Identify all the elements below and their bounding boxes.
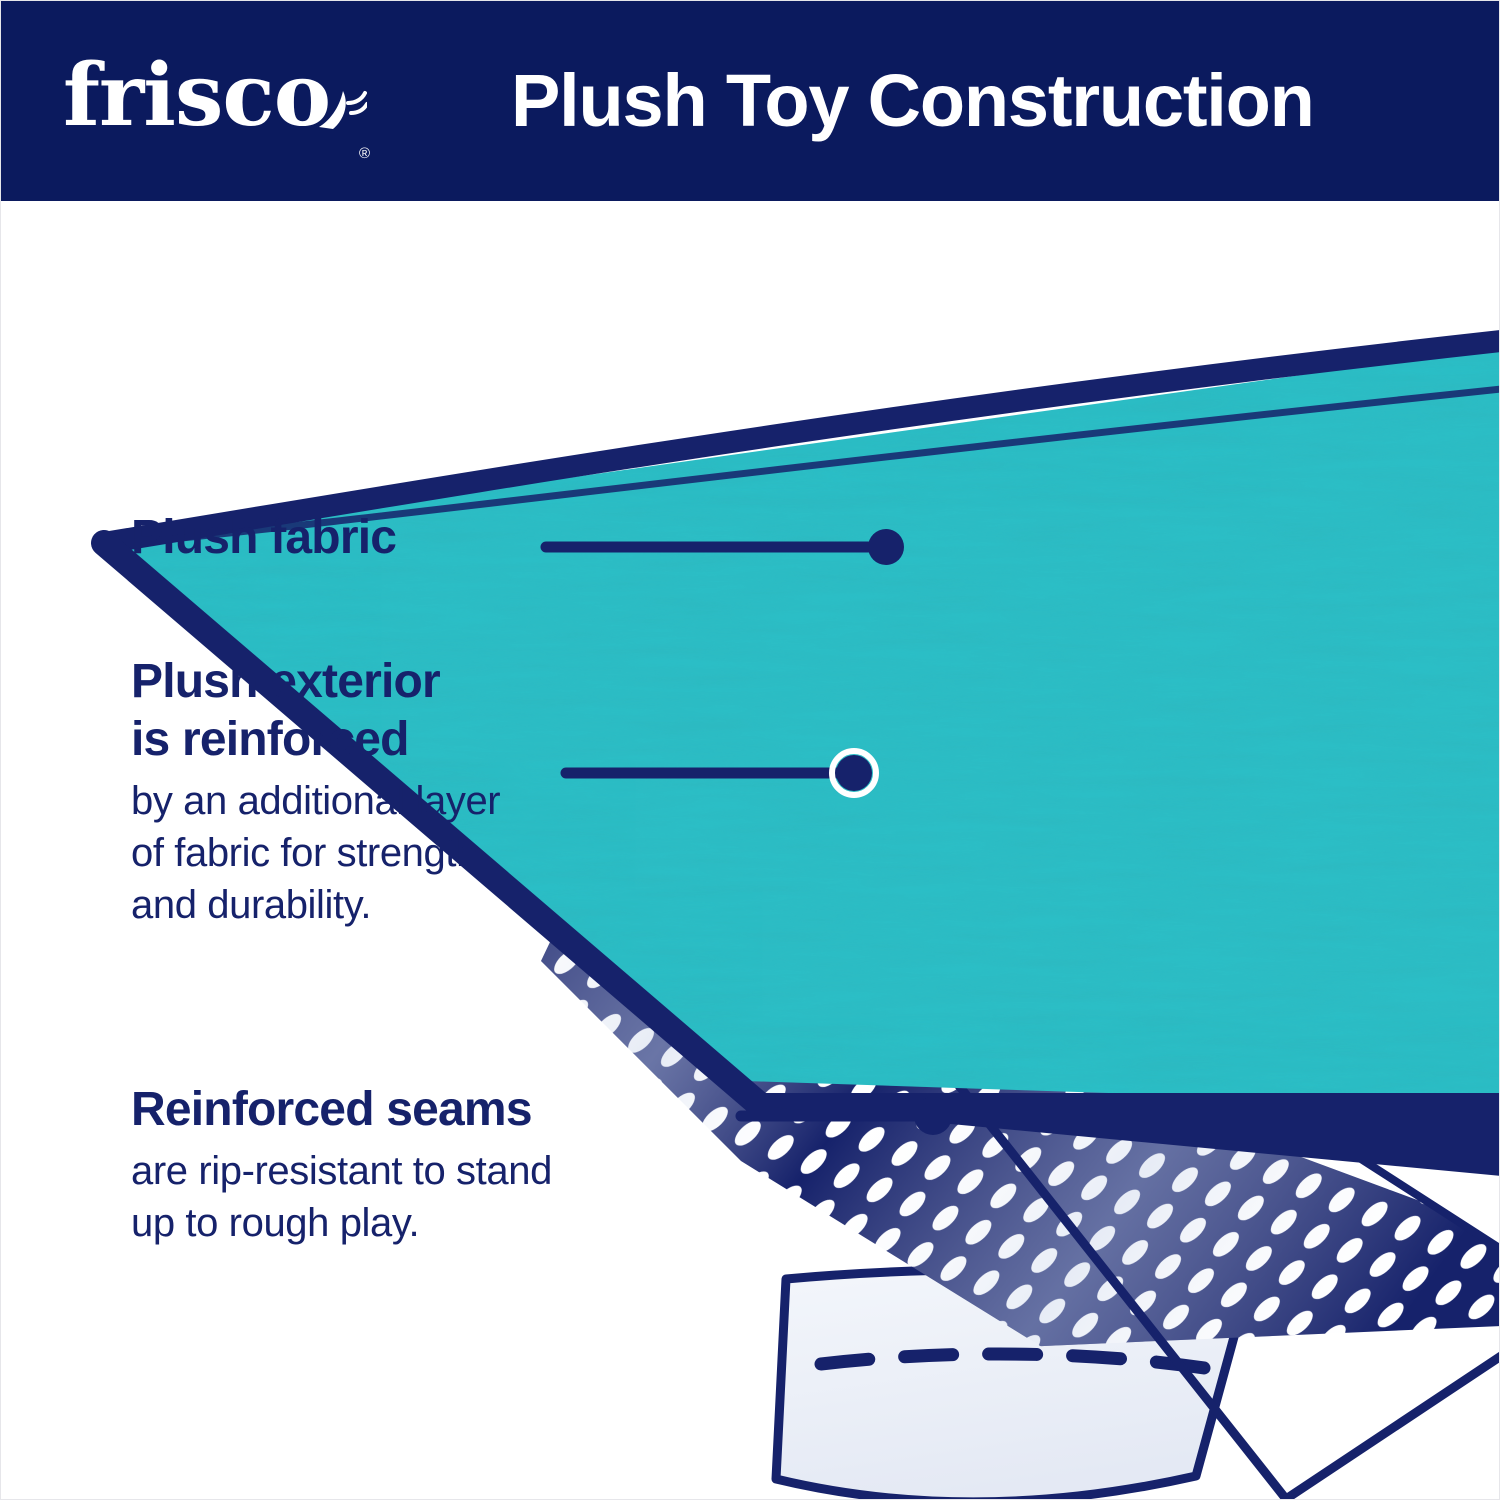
page-header: frisco ® Plush Toy Construction <box>1 1 1500 201</box>
callout-plush-exterior-reinforced: Plush exterior is reinforced by an addit… <box>131 653 711 931</box>
callout-reinforced-seams: Reinforced seams are rip-resistant to st… <box>131 1081 781 1249</box>
registered-trademark-icon: ® <box>359 145 370 162</box>
callout-plush-fabric: Plush fabric <box>131 509 561 567</box>
callout-heading: Plush exterior is reinforced <box>131 653 711 769</box>
callout-heading: Plush fabric <box>131 509 561 567</box>
frisco-logo: frisco ® <box>63 41 393 151</box>
callout-heading: Reinforced seams <box>131 1081 781 1139</box>
brand-wordmark: frisco <box>63 41 393 151</box>
callout-body: are rip-resistant to stand up to rough p… <box>131 1145 781 1249</box>
infographic-page: frisco ® Plush Toy Construction <box>0 0 1500 1500</box>
callout-body: by an additional layer of fabric for str… <box>131 775 711 931</box>
page-title: Plush Toy Construction <box>511 49 1411 153</box>
